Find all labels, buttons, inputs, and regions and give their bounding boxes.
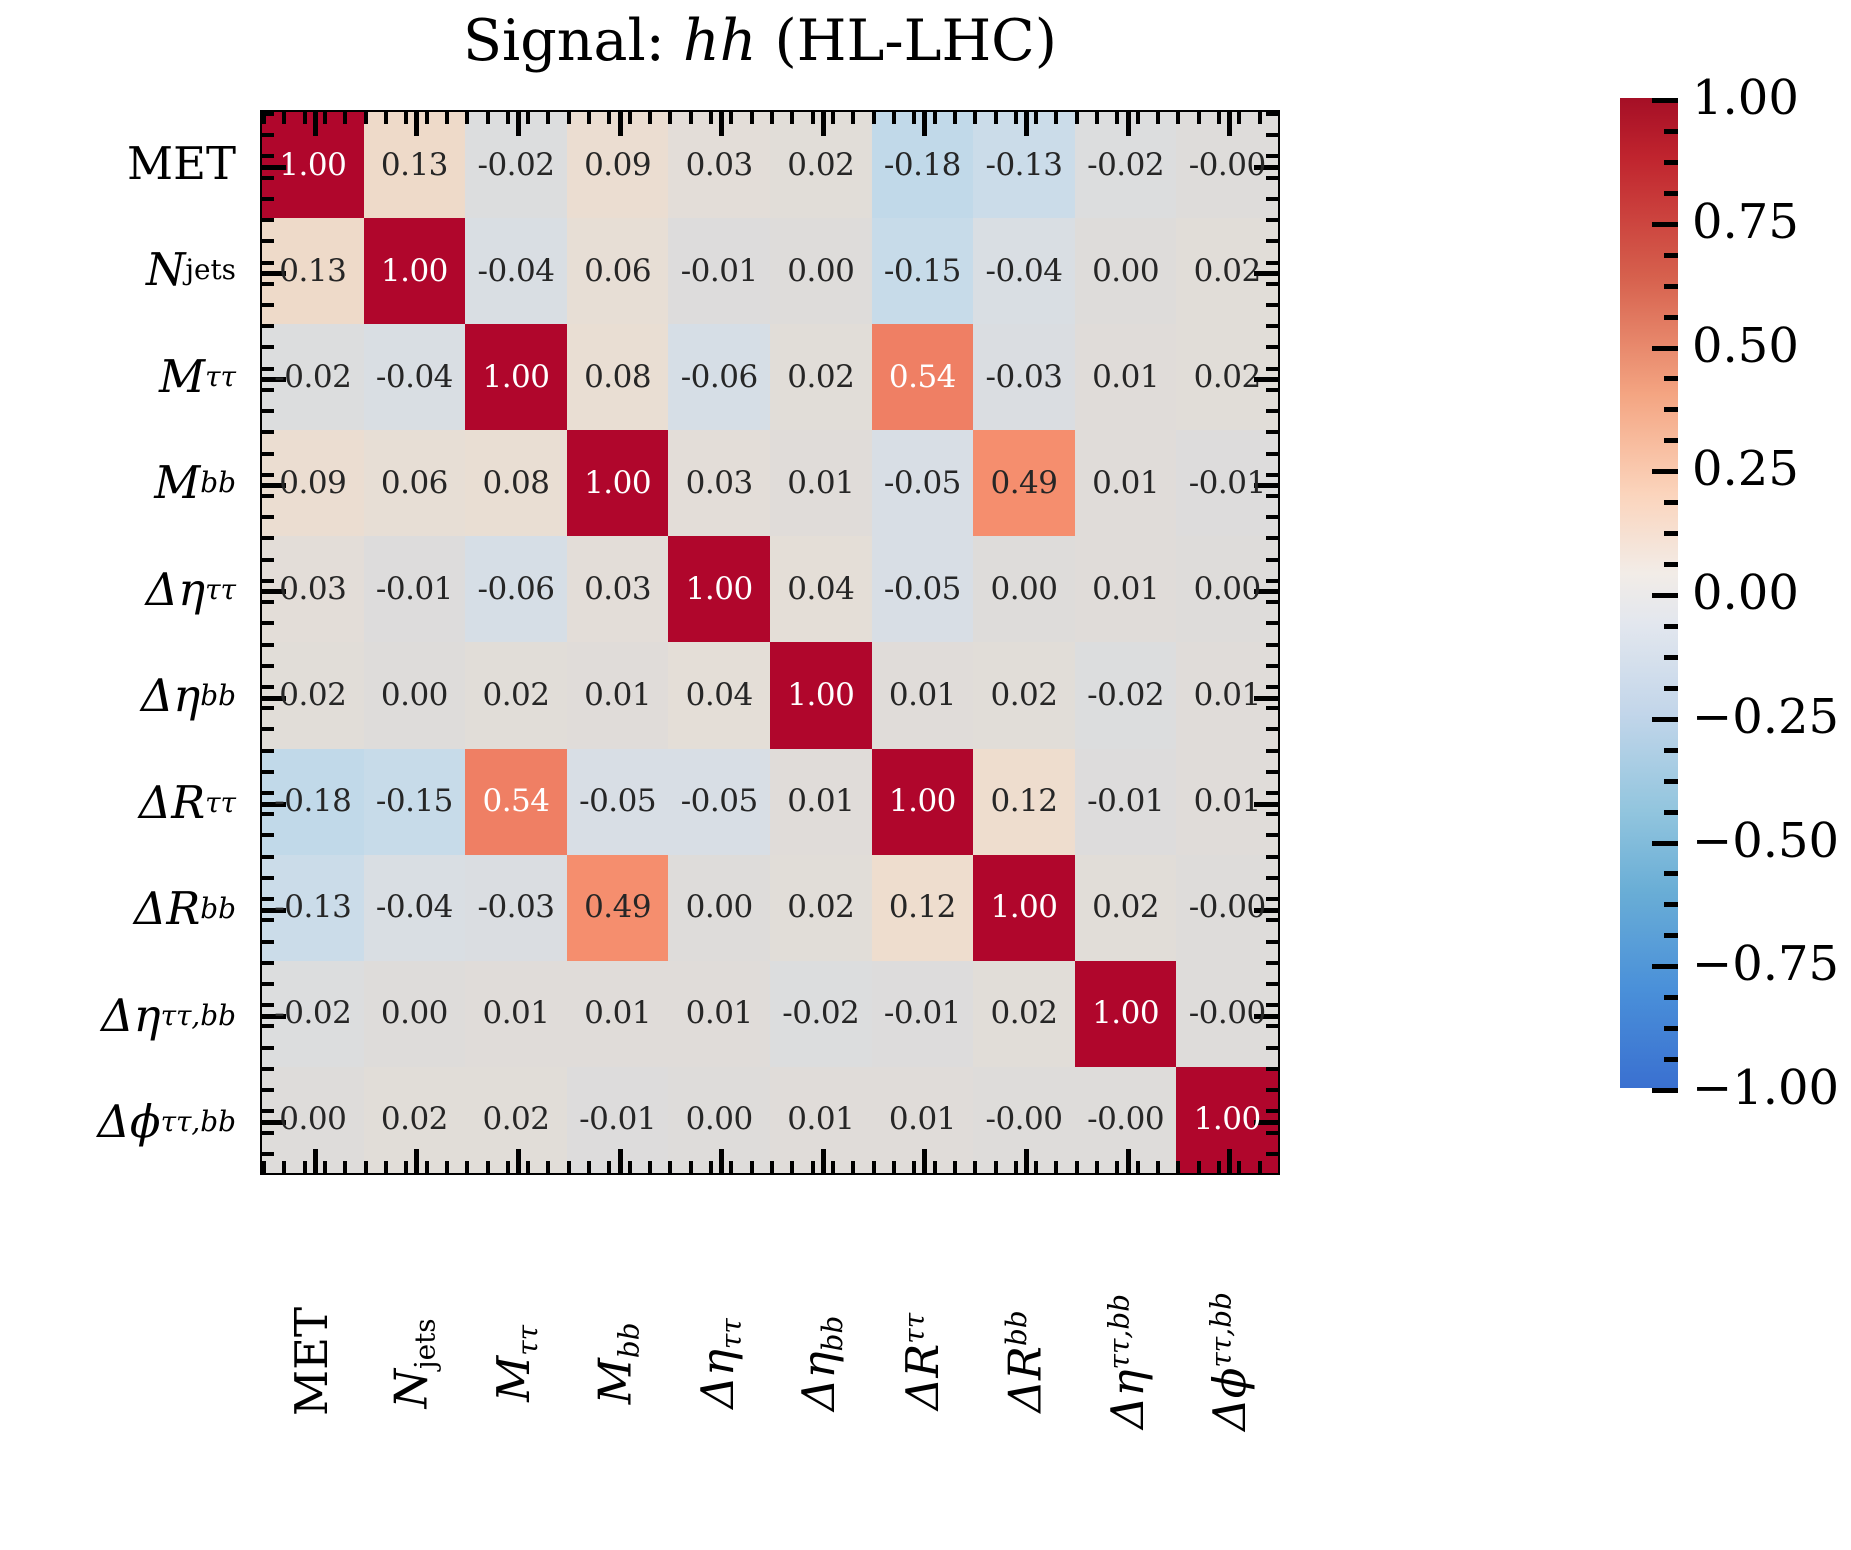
heatmap-cell: 1.00 — [973, 855, 1075, 961]
heatmap-cell: -0.04 — [465, 218, 567, 324]
heatmap-cell-value: 1.00 — [990, 892, 1057, 923]
heatmap-cell: 1.00 — [567, 430, 669, 536]
heatmap-cell-value: 0.02 — [1194, 256, 1261, 287]
heatmap-cell: 0.54 — [872, 324, 974, 430]
heatmap-cell: 0.00 — [1075, 218, 1177, 324]
heatmap-cell-value: 0.00 — [381, 998, 448, 1029]
heatmap-cell: -0.18 — [262, 749, 364, 855]
x-axis-label-0: MET — [260, 1185, 362, 1525]
heatmap-cell: -0.13 — [262, 855, 364, 961]
heatmap-cell-value: 1.00 — [686, 574, 753, 605]
heatmap-cell-value: 0.02 — [1194, 362, 1261, 393]
x-axis-label-2: Mττ — [464, 1185, 566, 1525]
heatmap-cell-value: -0.02 — [782, 998, 859, 1029]
heatmap-cell: -0.02 — [1075, 642, 1177, 748]
heatmap-cell: 0.06 — [364, 430, 466, 536]
heatmap-cell-value: -0.06 — [681, 362, 758, 393]
heatmap-cell-value: 0.01 — [1194, 786, 1261, 817]
heatmap-cell-value: 0.03 — [686, 468, 753, 499]
heatmap-cell-value: 0.09 — [279, 468, 346, 499]
heatmap-cell: -0.03 — [973, 324, 1075, 430]
heatmap-cell: -0.06 — [465, 536, 567, 642]
heatmap-cell: -0.15 — [872, 218, 974, 324]
heatmap-cell: 0.04 — [668, 642, 770, 748]
colorbar-tick-label-0: 1.00 — [1692, 70, 1799, 126]
heatmap-cell-value: -0.01 — [681, 256, 758, 287]
heatmap-cell-value: 0.00 — [990, 574, 1057, 605]
heatmap-cell-value: 0.03 — [686, 150, 753, 181]
heatmap-cell-value: -0.05 — [884, 468, 961, 499]
heatmap-cell-value: 0.02 — [381, 1104, 448, 1135]
heatmap-cell-value: -0.13 — [274, 892, 351, 923]
heatmap-cell-value: -0.03 — [477, 892, 554, 923]
y-axis-label-4: Δηττ — [146, 536, 236, 643]
heatmap-cell: 0.49 — [567, 855, 669, 961]
heatmap-cell: -0.05 — [872, 430, 974, 536]
heatmap-cell-value: 0.00 — [787, 256, 854, 287]
heatmap-cell: -0.00 — [1176, 112, 1278, 218]
heatmap-cell: 0.01 — [1075, 536, 1177, 642]
heatmap-cell-value: 0.13 — [381, 150, 448, 181]
heatmap-cell: -0.00 — [1075, 1067, 1177, 1173]
heatmap-cell: 0.03 — [668, 430, 770, 536]
heatmap-cell-value: -0.15 — [376, 786, 453, 817]
colorbar-tick-label-7: −0.75 — [1692, 936, 1839, 992]
colorbar-tick-major — [1652, 1088, 1678, 1093]
heatmap-cell-value: 0.04 — [686, 680, 753, 711]
heatmap-cell: -0.05 — [872, 536, 974, 642]
heatmap-cell: 1.00 — [1075, 961, 1177, 1067]
heatmap-cell: -0.02 — [465, 112, 567, 218]
heatmap-cell: 0.13 — [364, 112, 466, 218]
y-axis-labels: METNjetsMττMbbΔηττΔηbbΔRττΔRbbΔηττ,bbΔϕτ… — [0, 110, 248, 1175]
heatmap-cell-value: 0.00 — [279, 1104, 346, 1135]
heatmap-cell: -0.05 — [668, 749, 770, 855]
colorbar-tick-label-4: 0.00 — [1692, 565, 1799, 621]
heatmap-cell-value: -0.03 — [985, 362, 1062, 393]
heatmap-cell: -0.02 — [1075, 112, 1177, 218]
x-axis-label-7: ΔRbb — [974, 1185, 1076, 1525]
heatmap-cell: -0.13 — [973, 112, 1075, 218]
heatmap-cell-value: -0.13 — [985, 150, 1062, 181]
heatmap-cell-value: 1.00 — [381, 256, 448, 287]
title-suffix: (HL-LHC) — [756, 8, 1057, 74]
heatmap-cell-value: 0.03 — [279, 574, 346, 605]
heatmap-cell-value: 0.06 — [381, 468, 448, 499]
x-axis-label-4: Δηττ — [668, 1185, 770, 1525]
heatmap-cell-value: 0.02 — [787, 892, 854, 923]
heatmap-cell-value: 0.02 — [482, 680, 549, 711]
heatmap-cell-value: 0.00 — [1092, 256, 1159, 287]
heatmap-cell-value: 1.00 — [482, 362, 549, 393]
heatmap-cell: -0.15 — [364, 749, 466, 855]
heatmap-cell: 0.04 — [770, 536, 872, 642]
heatmap-cell-value: 0.01 — [787, 468, 854, 499]
heatmap-cell: 1.00 — [1176, 1067, 1278, 1173]
colorbar-tick-label-6: −0.50 — [1692, 813, 1839, 869]
heatmap-cell: 0.09 — [262, 430, 364, 536]
heatmap-cell-value: 0.02 — [1092, 892, 1159, 923]
x-axis-label-6: ΔRττ — [872, 1185, 974, 1525]
heatmap-cell: -0.00 — [1176, 961, 1278, 1067]
heatmap-cell-value: 0.02 — [787, 362, 854, 393]
heatmap-cell: 0.00 — [770, 218, 872, 324]
heatmap-cell: 0.01 — [567, 642, 669, 748]
heatmap-cell: -0.02 — [262, 961, 364, 1067]
heatmap-cell: -0.04 — [973, 218, 1075, 324]
heatmap-cell: 1.00 — [872, 749, 974, 855]
heatmap-cell: 0.02 — [770, 112, 872, 218]
heatmap-cell-value: 1.00 — [889, 786, 956, 817]
heatmap-cell: -0.01 — [1176, 430, 1278, 536]
y-axis-label-0: MET — [127, 110, 236, 217]
heatmap-cell-value: 0.00 — [686, 1104, 753, 1135]
heatmap-plot-area: 1.000.13-0.020.090.030.02-0.18-0.13-0.02… — [260, 110, 1280, 1175]
heatmap-cell-value: 0.00 — [686, 892, 753, 923]
title-italic: hh — [683, 8, 756, 74]
colorbar-tick-label-3: 0.25 — [1692, 441, 1799, 497]
heatmap-cell-value: -0.04 — [376, 362, 453, 393]
x-axis-label-3: Mbb — [566, 1185, 668, 1525]
y-axis-label-2: Mττ — [159, 323, 236, 430]
y-axis-label-5: Δηbb — [141, 643, 236, 750]
heatmap-cell: -0.06 — [668, 324, 770, 430]
heatmap-cell: 0.02 — [1075, 855, 1177, 961]
heatmap-cell: 0.06 — [567, 218, 669, 324]
heatmap-cell-value: 0.02 — [990, 998, 1057, 1029]
heatmap-cell-value: -0.04 — [376, 892, 453, 923]
heatmap-cell-value: -0.00 — [1189, 998, 1266, 1029]
heatmap-cell-value: -0.05 — [884, 574, 961, 605]
heatmap-cell-value: 0.00 — [1194, 574, 1261, 605]
heatmap-cell-value: -0.04 — [985, 256, 1062, 287]
heatmap-cell-value: 0.13 — [279, 256, 346, 287]
y-axis-label-7: ΔRbb — [134, 856, 236, 963]
heatmap-cell: 1.00 — [668, 536, 770, 642]
heatmap-cell-value: 0.00 — [381, 680, 448, 711]
heatmap-cell: 0.00 — [668, 1067, 770, 1173]
heatmap-cell-value: 0.02 — [787, 150, 854, 181]
heatmap-cell: 0.00 — [668, 855, 770, 961]
heatmap-cell: 0.03 — [668, 112, 770, 218]
heatmap-cell-value: 0.01 — [1092, 574, 1159, 605]
heatmap-cell-value: 0.01 — [889, 1104, 956, 1135]
colorbar-tick-labels: 1.000.750.500.250.00−0.25−0.50−0.75−1.00 — [1692, 98, 1851, 1088]
heatmap-cell: -0.02 — [770, 961, 872, 1067]
heatmap-cell: 0.00 — [364, 961, 466, 1067]
heatmap-cell-value: 0.01 — [482, 998, 549, 1029]
heatmap-cell-value: -0.05 — [681, 786, 758, 817]
y-axis-label-3: Mbb — [154, 430, 236, 537]
heatmap-cell-value: -0.02 — [274, 362, 351, 393]
y-axis-label-9: Δϕττ,bb — [97, 1069, 236, 1176]
heatmap-cell-value: 0.01 — [1194, 680, 1261, 711]
heatmap-cell: -0.01 — [1075, 749, 1177, 855]
colorbar-tick-label-8: −1.00 — [1692, 1060, 1839, 1116]
heatmap-cell: 0.02 — [465, 642, 567, 748]
heatmap-cell: -0.05 — [567, 749, 669, 855]
heatmap-cell: 0.01 — [872, 642, 974, 748]
heatmap-cell: 0.13 — [262, 218, 364, 324]
heatmap-cell: -0.01 — [567, 1067, 669, 1173]
x-axis-label-5: Δηbb — [770, 1185, 872, 1525]
heatmap-cell: 0.01 — [770, 430, 872, 536]
heatmap-cell: 0.01 — [1075, 430, 1177, 536]
heatmap-cell: 0.01 — [1176, 749, 1278, 855]
heatmap-cell: 0.00 — [364, 642, 466, 748]
heatmap-cell: 0.03 — [567, 536, 669, 642]
heatmap-cell-value: -0.00 — [1189, 892, 1266, 923]
heatmap-cell-value: 0.09 — [584, 150, 651, 181]
heatmap-cell: 0.01 — [770, 749, 872, 855]
heatmap-cell-value: 0.54 — [482, 786, 549, 817]
heatmap-cell: -0.01 — [364, 536, 466, 642]
heatmap-cell-value: 1.00 — [584, 468, 651, 499]
heatmap-grid: 1.000.13-0.020.090.030.02-0.18-0.13-0.02… — [262, 112, 1278, 1173]
colorbar-gradient — [1620, 98, 1678, 1088]
y-axis-label-8: Δηττ,bb — [101, 962, 236, 1069]
heatmap-cell-value: 0.01 — [1092, 468, 1159, 499]
heatmap-cell: 0.03 — [262, 536, 364, 642]
heatmap-cell-value: -0.00 — [985, 1104, 1062, 1135]
heatmap-cell: 0.54 — [465, 749, 567, 855]
heatmap-cell: 0.01 — [668, 961, 770, 1067]
heatmap-cell: -0.01 — [872, 961, 974, 1067]
heatmap-cell: 0.12 — [872, 855, 974, 961]
heatmap-cell-value: -0.06 — [477, 574, 554, 605]
heatmap-cell: 0.02 — [973, 642, 1075, 748]
heatmap-cell-value: 1.00 — [1194, 1104, 1261, 1135]
heatmap-cell: 0.01 — [770, 1067, 872, 1173]
colorbar-tick-label-1: 0.75 — [1692, 194, 1799, 250]
heatmap-cell: 1.00 — [465, 324, 567, 430]
heatmap-cell-value: -0.18 — [884, 150, 961, 181]
heatmap-cell-value: 0.08 — [584, 362, 651, 393]
heatmap-cell-value: 0.49 — [990, 468, 1057, 499]
heatmap-cell-value: 1.00 — [279, 150, 346, 181]
heatmap-cell: -0.00 — [973, 1067, 1075, 1173]
heatmap-cell-value: 1.00 — [787, 680, 854, 711]
heatmap-cell-value: 0.01 — [787, 786, 854, 817]
heatmap-cell: 0.08 — [465, 430, 567, 536]
heatmap-cell: 1.00 — [770, 642, 872, 748]
heatmap-cell: 0.02 — [973, 961, 1075, 1067]
heatmap-cell-value: 0.02 — [990, 680, 1057, 711]
heatmap-cell: 0.01 — [1176, 642, 1278, 748]
heatmap-cell: -0.04 — [364, 855, 466, 961]
heatmap-cell-value: -0.02 — [477, 150, 554, 181]
heatmap-cell-value: -0.01 — [884, 998, 961, 1029]
chart-title: Signal: hh (HL-LHC) — [0, 10, 1520, 73]
heatmap-cell-value: 0.01 — [1092, 362, 1159, 393]
heatmap-cell-value: -0.01 — [579, 1104, 656, 1135]
heatmap-cell: -0.03 — [465, 855, 567, 961]
heatmap-cell-value: -0.00 — [1087, 1104, 1164, 1135]
heatmap-cell: 0.02 — [262, 642, 364, 748]
heatmap-cell-value: -0.01 — [376, 574, 453, 605]
heatmap-cell: 0.02 — [364, 1067, 466, 1173]
x-axis-label-8: Δηττ,bb — [1076, 1185, 1178, 1525]
heatmap-cell-value: 0.01 — [686, 998, 753, 1029]
heatmap-cell: -0.00 — [1176, 855, 1278, 961]
heatmap-cell-value: 0.49 — [584, 892, 651, 923]
heatmap-cell-value: 0.01 — [584, 998, 651, 1029]
y-axis-label-6: ΔRττ — [139, 749, 236, 856]
heatmap-cell-value: 0.01 — [889, 680, 956, 711]
heatmap-cell: -0.01 — [668, 218, 770, 324]
colorbar — [1620, 98, 1678, 1088]
heatmap-cell: 0.02 — [770, 324, 872, 430]
heatmap-cell: -0.02 — [262, 324, 364, 430]
heatmap-cell-value: 0.02 — [482, 1104, 549, 1135]
y-axis-label-1: Njets — [146, 217, 236, 324]
heatmap-cell: 1.00 — [364, 218, 466, 324]
x-axis-label-1: Njets — [362, 1185, 464, 1525]
heatmap-cell: 0.02 — [770, 855, 872, 961]
heatmap-cell-value: -0.02 — [274, 998, 351, 1029]
heatmap-cell-value: -0.15 — [884, 256, 961, 287]
heatmap-cell-value: 0.06 — [584, 256, 651, 287]
heatmap-cell: 0.09 — [567, 112, 669, 218]
heatmap-cell: 0.49 — [973, 430, 1075, 536]
heatmap-cell-value: 0.08 — [482, 468, 549, 499]
heatmap-cell-value: 1.00 — [1092, 998, 1159, 1029]
heatmap-cell: 0.01 — [1075, 324, 1177, 430]
heatmap-cell-value: 0.12 — [889, 892, 956, 923]
heatmap-cell-value: 0.01 — [584, 680, 651, 711]
heatmap-cell-value: 0.03 — [584, 574, 651, 605]
heatmap-cell: 0.12 — [973, 749, 1075, 855]
heatmap-cell: 0.01 — [567, 961, 669, 1067]
figure-root: Signal: hh (HL-LHC) METNjetsMττMbbΔηττΔη… — [0, 0, 1851, 1550]
heatmap-cell-value: -0.18 — [274, 786, 351, 817]
heatmap-cell-value: -0.02 — [1087, 150, 1164, 181]
heatmap-cell: 0.00 — [973, 536, 1075, 642]
x-axis-label-9: Δϕττ,bb — [1178, 1185, 1280, 1525]
heatmap-cell: 0.08 — [567, 324, 669, 430]
heatmap-cell: 0.02 — [465, 1067, 567, 1173]
heatmap-cell: 0.02 — [1176, 324, 1278, 430]
heatmap-cell: 0.02 — [1176, 218, 1278, 324]
colorbar-tick-label-5: −0.25 — [1692, 689, 1839, 745]
x-axis-labels: METNjetsMττMbbΔηττΔηbbΔRττΔRbbΔηττ,bbΔϕτ… — [260, 1185, 1280, 1545]
heatmap-cell: 0.01 — [465, 961, 567, 1067]
heatmap-cell-value: -0.00 — [1189, 150, 1266, 181]
heatmap-cell-value: 0.54 — [889, 362, 956, 393]
heatmap-cell-value: -0.01 — [1087, 786, 1164, 817]
heatmap-cell-value: 0.04 — [787, 574, 854, 605]
title-prefix: Signal: — [463, 8, 683, 74]
heatmap-cell-value: 0.02 — [279, 680, 346, 711]
heatmap-cell-value: 0.01 — [787, 1104, 854, 1135]
heatmap-cell-value: -0.02 — [1087, 680, 1164, 711]
heatmap-cell: 0.00 — [262, 1067, 364, 1173]
colorbar-tick-label-2: 0.50 — [1692, 318, 1799, 374]
heatmap-cell-value: -0.04 — [477, 256, 554, 287]
heatmap-cell: 0.01 — [872, 1067, 974, 1173]
heatmap-cell: 1.00 — [262, 112, 364, 218]
heatmap-cell: 0.00 — [1176, 536, 1278, 642]
heatmap-cell: -0.18 — [872, 112, 974, 218]
heatmap-cell-value: -0.01 — [1189, 468, 1266, 499]
heatmap-cell-value: -0.05 — [579, 786, 656, 817]
heatmap-cell: -0.04 — [364, 324, 466, 430]
heatmap-cell-value: 0.12 — [990, 786, 1057, 817]
